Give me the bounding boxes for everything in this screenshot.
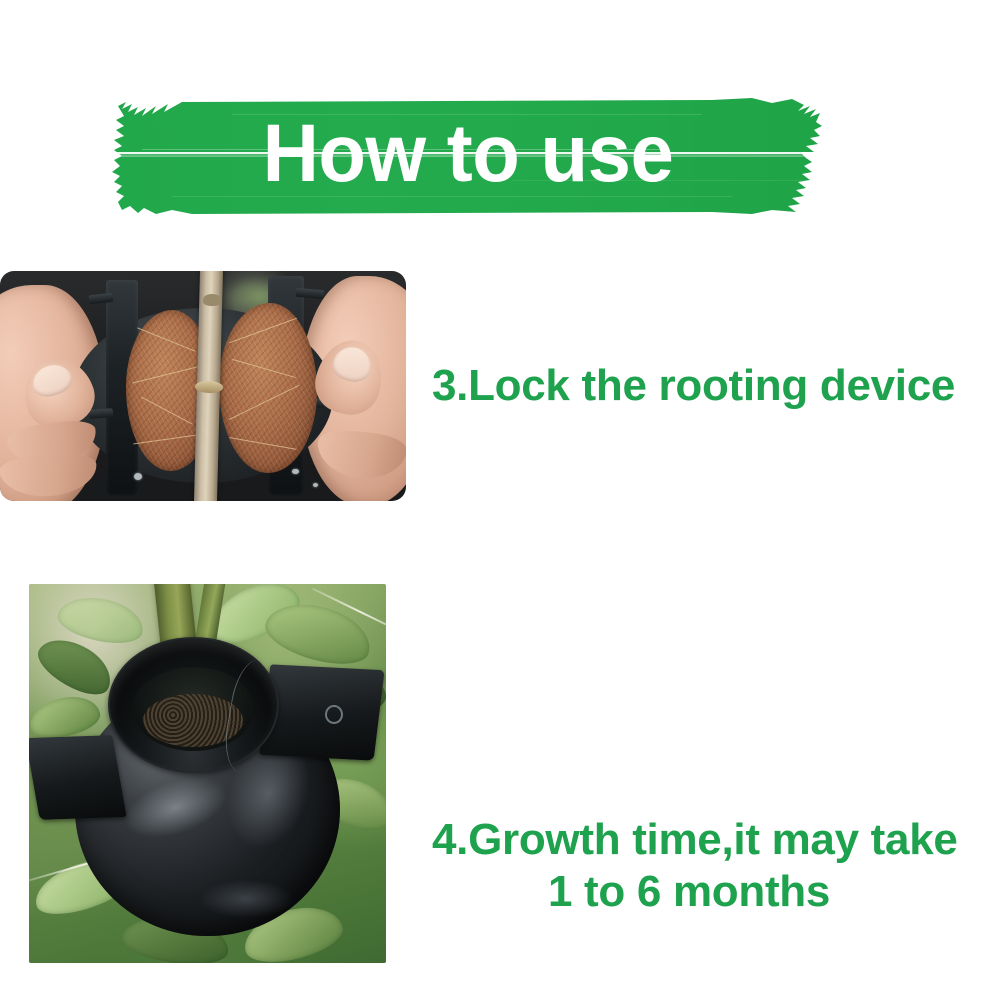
rooting-device-installed-photo (29, 584, 386, 963)
latch-tab (89, 408, 114, 419)
page-title: How to use (130, 92, 806, 220)
step-4-caption-line-2: 1 to 6 months (432, 866, 998, 918)
rooting-device-open-halves-photo (0, 271, 406, 501)
coir-filling-right (219, 303, 316, 473)
step-4-caption: 4.Growth time,it may take 1 to 6 months (432, 762, 998, 970)
step-4-caption-line-1: 4.Growth time,it may take (432, 815, 958, 864)
photo-scene (29, 584, 386, 963)
branch-bud (203, 294, 221, 306)
ball-highlight (200, 880, 293, 918)
poster-root: How to use (0, 0, 1000, 1000)
photo-scene (0, 271, 406, 501)
latch-wing-left (29, 735, 126, 820)
water-droplet (292, 469, 298, 475)
header-banner: How to use (112, 92, 824, 220)
step-3-caption: 3.Lock the rooting device (432, 360, 955, 412)
